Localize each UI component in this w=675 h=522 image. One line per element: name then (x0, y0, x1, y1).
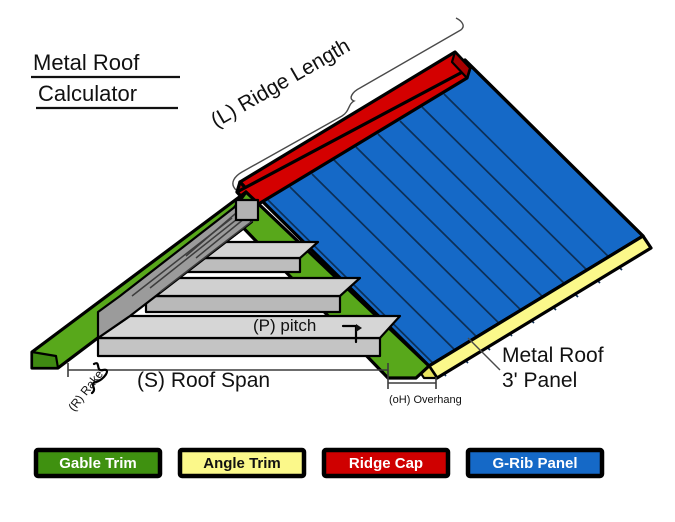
legend-item-g-rib-panel[interactable]: G-Rib Panel (468, 450, 602, 476)
diagram-canvas: Metal Roof Calculator (L) Ridge Length (0, 0, 675, 522)
panel-callout-line-2: 3' Panel (502, 369, 577, 392)
legend-label-angle-trim: Angle Trim (203, 455, 281, 472)
legend-label-gable-trim: Gable Trim (59, 455, 137, 472)
panel-callout-line-1: Metal Roof (502, 344, 604, 367)
pitch-label: (P) pitch (253, 316, 316, 335)
legend-item-gable-trim[interactable]: Gable Trim (36, 450, 160, 476)
legend-label-g-rib-panel: G-Rib Panel (492, 455, 577, 472)
roof-span-label: (S) Roof Span (137, 369, 270, 392)
legend-item-angle-trim[interactable]: Angle Trim (180, 450, 304, 476)
title-line-1: Metal Roof (33, 50, 140, 75)
legend-label-ridge-cap: Ridge Cap (349, 455, 423, 472)
title-line-2: Calculator (38, 81, 137, 106)
overhang-label: (oH) Overhang (389, 394, 462, 406)
legend-item-ridge-cap[interactable]: Ridge Cap (324, 450, 448, 476)
